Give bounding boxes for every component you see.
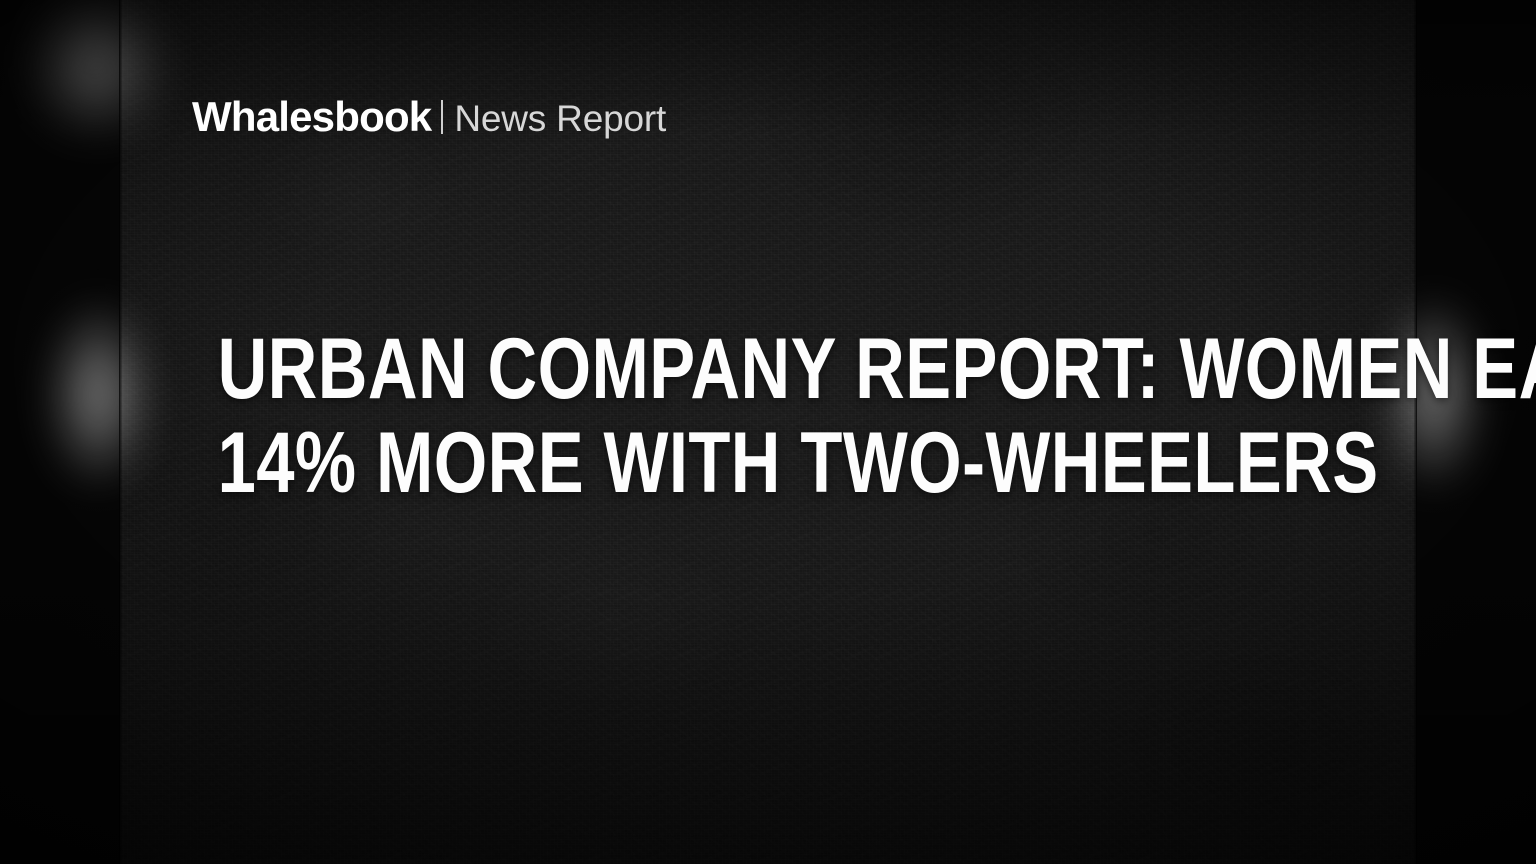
headline-line-2: 14% MORE WITH TWO-WHEELERS (218, 416, 1319, 510)
brand-logo: Whalesbook News Report (192, 96, 666, 138)
news-report-card: Whalesbook News Report URBAN COMPANY REP… (0, 0, 1536, 864)
card-content: Whalesbook News Report URBAN COMPANY REP… (0, 0, 1536, 864)
headline-line-1: URBAN COMPANY REPORT: WOMEN EARN (218, 322, 1319, 416)
brand-wordmark: Whalesbook (192, 96, 431, 138)
logo-section-label: News Report (454, 100, 666, 137)
headline: URBAN COMPANY REPORT: WOMEN EARN 14% MOR… (0, 322, 1536, 510)
logo-divider (441, 100, 443, 134)
